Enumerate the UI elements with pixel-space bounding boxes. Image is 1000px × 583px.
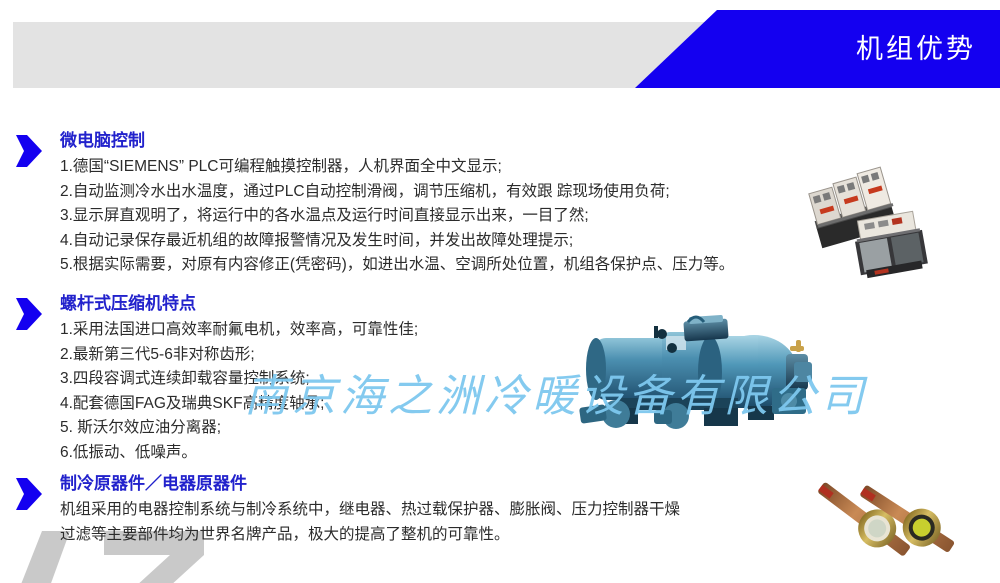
section-title: 螺杆式压缩机特点 [60,293,418,315]
section-line: 1.采用法国进口高效率耐氟电机，效率高，可靠性佳; [60,318,418,343]
section-screw-compressor: 螺杆式压缩机特点 1.采用法国进口高效率耐氟电机，效率高，可靠性佳; 2.最新第… [14,293,418,465]
section-title: 制冷原器件／电器原器件 [60,473,680,495]
copper-sight-glass-valve-photo [806,470,956,570]
section-line: 4.配套德国FAG及瑞典SKF高精度轴承; [60,392,418,417]
section-line: 3.四段容调式连续卸载容量控制系统; [60,367,418,392]
section-line: 过滤等主要部件均为世界名牌产品，极大的提高了整机的可靠性。 [60,523,680,548]
section-line: 2.自动监测冷水出水温度，通过PLC自动控制滑阀，调节压缩机，有效跟 踪现场使用… [60,180,734,205]
chevron-right-icon [14,297,44,331]
section-line: 5.根据实际需要，对原有内容修正(凭密码)，如进出水温、空调所处位置，机组各保护… [60,253,734,278]
screw-compressor-photo [558,310,814,450]
section-micro-control: 微电脑控制 1.德国“SIEMENS” PLC可编程触摸控制器，人机界面全中文显… [14,130,734,278]
page-title: 机组优势 [856,10,976,88]
chevron-right-icon [14,477,44,511]
ac-contactor-photo [848,205,940,283]
section-line: 4.自动记录保存最近机组的故障报警情况及发生时间，并发出故障处理提示; [60,229,734,254]
section-refrigeration-parts: 制冷原器件／电器原器件 机组采用的电器控制系统与制冷系统中，继电器、热过载保护器… [14,473,680,547]
section-line: 6.低振动、低噪声。 [60,441,418,466]
header-gray-band [13,22,735,88]
section-line: 3.显示屏直观明了，将运行中的各水温点及运行时间直接显示出来，一目了然; [60,204,734,229]
section-line: 5. 斯沃尔效应油分离器; [60,416,418,441]
slide-page: 机组优势 [0,0,1000,583]
section-line: 2.最新第三代5-6非对称齿形; [60,343,418,368]
chevron-right-icon [14,134,44,168]
section-line: 机组采用的电器控制系统与制冷系统中，继电器、热过载保护器、膨胀阀、压力控制器干燥 [60,498,680,523]
section-line: 1.德国“SIEMENS” PLC可编程触摸控制器，人机界面全中文显示; [60,155,734,180]
section-title: 微电脑控制 [60,130,734,152]
